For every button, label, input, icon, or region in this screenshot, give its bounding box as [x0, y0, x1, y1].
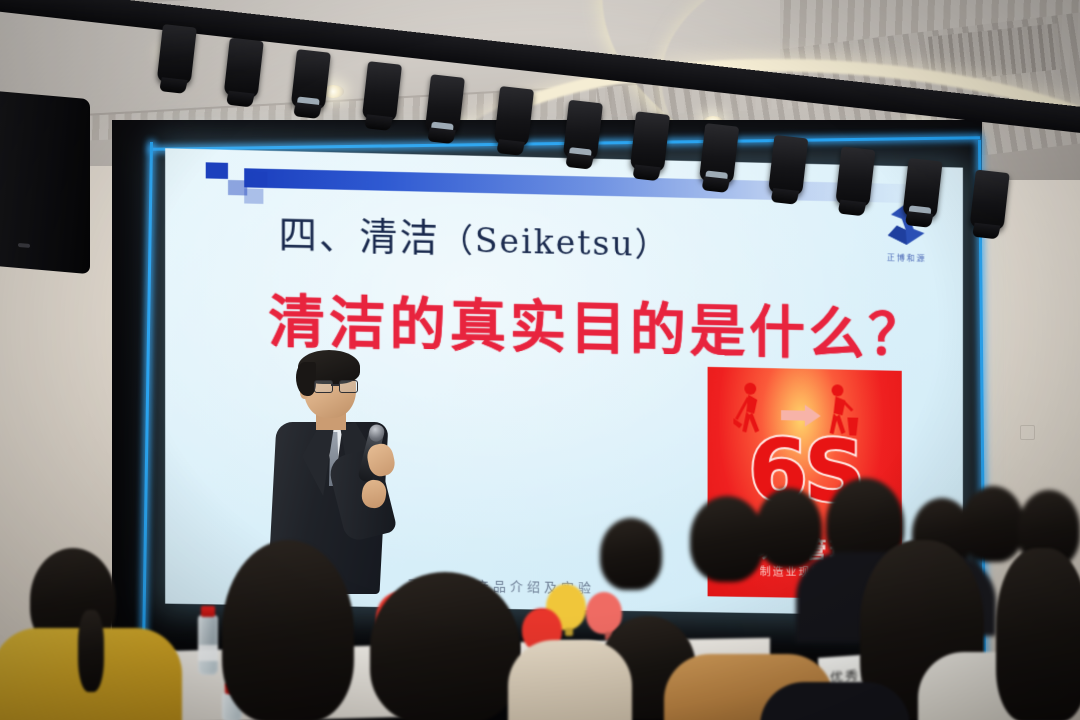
presenter-hair-side	[296, 362, 316, 396]
stage-spotlight	[224, 38, 264, 99]
audience-person	[600, 518, 662, 590]
stage-spotlight	[291, 49, 331, 110]
audience-cream-coat	[508, 640, 632, 720]
stage-spotlight	[362, 61, 402, 122]
stage-spotlight	[969, 170, 1009, 231]
audience-ponytail	[78, 610, 104, 692]
stage-spotlight	[630, 111, 670, 172]
audience-shoulders	[760, 682, 910, 720]
audience-person	[756, 488, 822, 568]
eyeglasses-icon	[314, 380, 358, 391]
photo-scene: 四、清洁（Seiketsu） 清洁的真实目的是什么？ 正博和源	[0, 0, 1080, 720]
stage-spotlight	[157, 24, 197, 85]
audience-person	[690, 496, 764, 582]
stage-spotlight	[699, 123, 739, 184]
stage-spotlight	[425, 74, 465, 135]
audience-person	[962, 486, 1024, 562]
water-bottle	[198, 615, 218, 675]
stage-spotlight	[902, 158, 942, 219]
stage-spotlight	[768, 135, 808, 196]
audience-person-hair	[370, 572, 520, 720]
speaker-badge	[18, 243, 30, 248]
stage-spotlight	[494, 86, 534, 147]
stage-spotlight	[563, 100, 603, 161]
audience-person-hair	[222, 540, 354, 720]
stage-spotlight	[835, 146, 875, 207]
audience-person-hair	[996, 548, 1080, 720]
wall-socket	[1020, 425, 1035, 440]
